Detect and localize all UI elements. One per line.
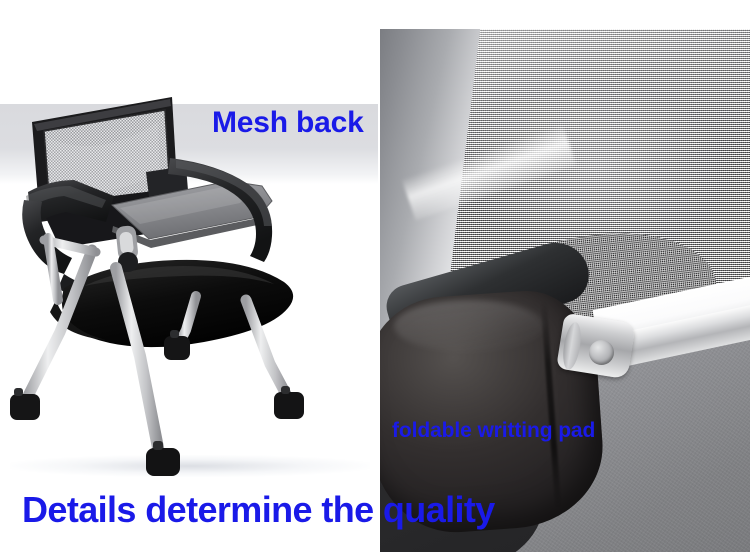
- armrest-pad-gloss: [394, 300, 544, 352]
- hinge-knob: [589, 340, 614, 365]
- tagline-footer: Details determine the quality: [22, 492, 495, 528]
- left-photo-panel: Mesh back: [0, 0, 378, 552]
- top-white-strip: [380, 0, 750, 29]
- chair-illustration: [0, 0, 378, 552]
- foldable-pad-caption: foldable writting pad: [392, 420, 595, 441]
- mesh-back-caption: Mesh back: [212, 108, 364, 138]
- product-banner: Mesh back permeable to the air; ergonomi…: [0, 0, 750, 552]
- right-photo-panel: permeable to the air; ergonomic design f…: [380, 0, 750, 552]
